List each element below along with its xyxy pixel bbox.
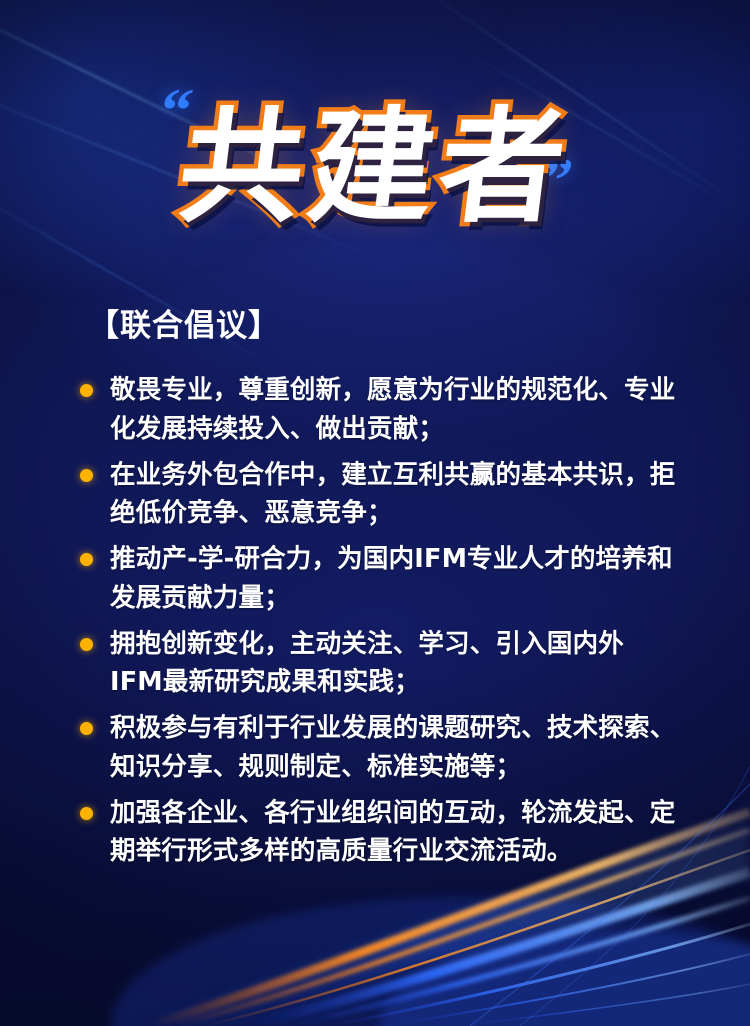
bullet-dot-icon [80, 638, 93, 651]
list-item-text: 推动产-学-研合力，为国内IFM专业人才的培养和发展贡献力量； [110, 544, 673, 613]
list-item: 推动产-学-研合力，为国内IFM专业人才的培养和发展贡献力量； [78, 540, 676, 618]
poster-canvas: “ ” 共建者 【联合倡议】 敬畏专业，尊重创新，愿意为行业的规范化、专业化发展… [0, 0, 750, 1026]
bullet-dot-icon [80, 469, 93, 482]
section-heading: 【联合倡议】 [88, 300, 750, 345]
title-block: “ ” 共建者 [0, 58, 750, 283]
light-trail-svg [0, 726, 750, 1026]
list-item: 在业务外包合作中，建立互利共赢的基本共识，拒绝低价竞争、恶意竞争； [78, 456, 676, 534]
list-item-text: 拥抱创新变化，主动关注、学习、引入国内外IFM最新研究成果和实践； [110, 629, 624, 698]
light-trail-decoration [0, 726, 750, 1026]
list-item-text: 在业务外包合作中，建立互利共赢的基本共识，拒绝低价竞争、恶意竞争； [110, 460, 675, 529]
bullet-dot-icon [80, 553, 93, 566]
page-title: 共建者 [0, 106, 750, 230]
bullet-dot-icon [80, 384, 93, 397]
list-item: 敬畏专业，尊重创新，愿意为行业的规范化、专业化发展持续投入、做出贡献； [78, 371, 676, 449]
list-item-text: 敬畏专业，尊重创新，愿意为行业的规范化、专业化发展持续投入、做出贡献； [110, 375, 675, 444]
list-item: 拥抱创新变化，主动关注、学习、引入国内外IFM最新研究成果和实践； [78, 625, 676, 703]
